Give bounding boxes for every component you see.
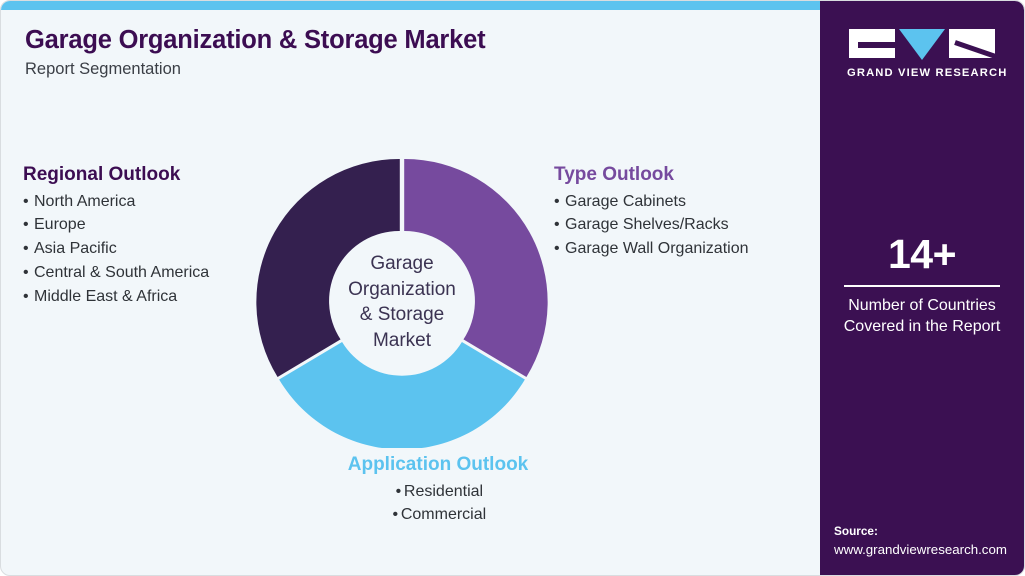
application-outlook-block: Application Outlook •Residential •Commer… [313,453,563,527]
list-item: •Middle East & Africa [23,285,273,309]
bullet-icon: • [554,213,565,237]
list-item: •Asia Pacific [23,237,273,261]
source-block: Source: www.grandviewresearch.com [834,523,1024,559]
grand-view-research-logo: GRAND VIEW RESEARCH [847,29,997,79]
list-item-label: Residential [404,483,483,500]
bullet-icon: • [23,213,34,237]
list-item: •Commercial [313,503,563,527]
donut-chart-svg [256,156,548,448]
header: Garage Organization & Storage Market Rep… [25,25,795,80]
list-item-label: Garage Wall Organization [565,240,749,257]
list-item: •Garage Cabinets [554,190,809,214]
list-item-label: Garage Shelves/Racks [565,216,729,233]
logo-letter-v-triangle-icon [899,29,945,60]
regional-outlook-block: Regional Outlook •North America •Europe … [23,163,273,308]
regional-outlook-heading: Regional Outlook [23,163,273,187]
stat-label-line1: Number of Countries [820,295,1024,316]
list-item-label: Middle East & Africa [34,288,177,305]
type-outlook-heading: Type Outlook [554,163,809,187]
bullet-icon: • [23,261,34,285]
type-outlook-list: •Garage Cabinets •Garage Shelves/Racks •… [554,190,809,261]
logo-letter-r-icon [949,29,995,58]
stat-label-line2: Covered in the Report [820,316,1024,337]
logo-wordmark: GRAND VIEW RESEARCH [847,67,997,79]
source-url[interactable]: www.grandviewresearch.com [834,540,1024,559]
type-outlook-block: Type Outlook •Garage Cabinets •Garage Sh… [554,163,809,261]
stat-value: 14+ [820,233,1024,276]
infographic-canvas: Garage Organization & Storage Market Rep… [0,0,1025,576]
list-item-label: Europe [34,216,86,233]
donut-segment-application[interactable] [279,342,525,448]
stat-divider [844,285,1000,287]
bullet-icon: • [393,480,404,504]
bullet-icon: • [23,237,34,261]
bullet-icon: • [554,237,565,261]
bullet-icon: • [554,190,565,214]
top-accent-strip [1,1,822,10]
list-item: •Garage Shelves/Racks [554,213,809,237]
page-title: Garage Organization & Storage Market [25,25,795,55]
donut-segment-regional[interactable] [256,159,399,377]
stat-block: 14+ Number of Countries Covered in the R… [820,233,1024,337]
application-outlook-heading: Application Outlook [313,453,563,477]
list-item-label: Central & South America [34,264,209,281]
brand-sidebar: GRAND VIEW RESEARCH 14+ Number of Countr… [820,1,1024,576]
page-subtitle: Report Segmentation [25,60,795,80]
bullet-icon: • [23,285,34,309]
logo-marks [847,29,997,60]
list-item: •North America [23,190,273,214]
bullet-icon: • [23,190,34,214]
list-item: •Residential [313,480,563,504]
logo-letter-g-icon [849,29,895,58]
list-item: •Garage Wall Organization [554,237,809,261]
list-item-label: Commercial [401,506,486,523]
donut-segment-type[interactable] [404,159,547,377]
list-item-label: Garage Cabinets [565,193,686,210]
source-title: Source: [834,523,1024,540]
list-item: •Europe [23,213,273,237]
list-item: •Central & South America [23,261,273,285]
list-item-label: Asia Pacific [34,240,117,257]
list-item-label: North America [34,193,135,210]
donut-chart: Garage Organization & Storage Market [256,156,548,448]
application-outlook-list: •Residential •Commercial [313,480,563,527]
bullet-icon: • [390,503,401,527]
regional-outlook-list: •North America •Europe •Asia Pacific •Ce… [23,190,273,309]
